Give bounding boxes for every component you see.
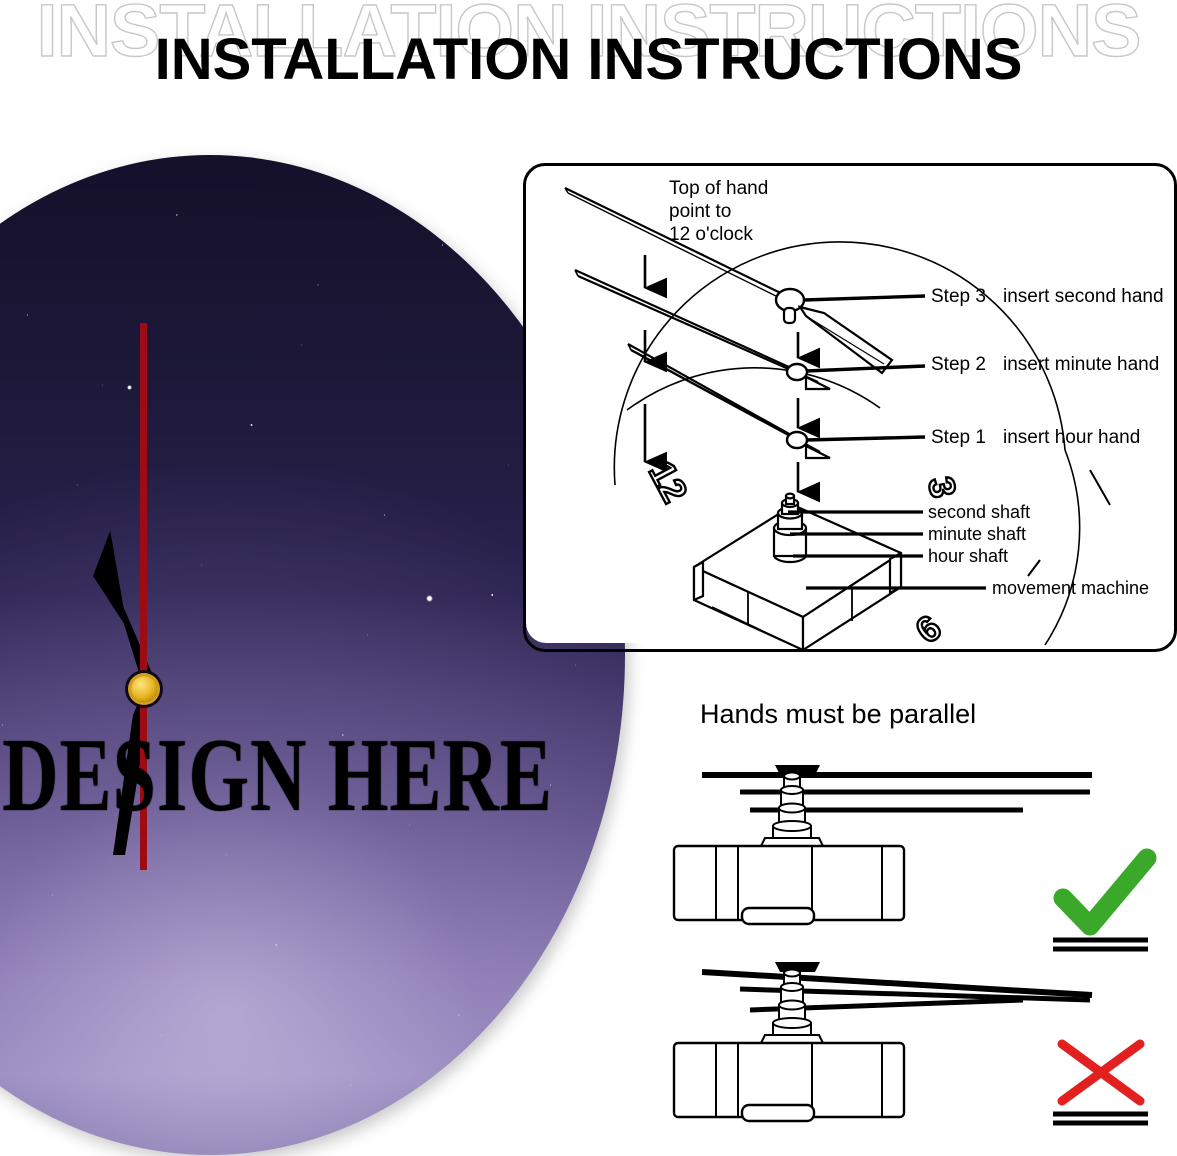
parallel-section-title: Hands must be parallel [700, 699, 976, 730]
step-1-label: Step 1 [931, 427, 986, 449]
correct-assembly-drawing [674, 765, 1092, 924]
minute-shaft-label: minute shaft [928, 524, 1026, 545]
clock-design-text: UR DESIGN HERE [0, 714, 625, 836]
second-shaft-label: second shaft [928, 502, 1030, 523]
step-1-action: insert hour hand [1003, 427, 1140, 449]
incorrect-assembly-drawing [674, 962, 1092, 1121]
hour-shaft-label: hour shaft [928, 546, 1008, 567]
clock-center-cap [131, 676, 157, 702]
step-2-action: insert minute hand [1003, 354, 1159, 376]
clock-second-hand [140, 323, 147, 703]
step-3-label: Step 3 [931, 286, 986, 308]
check-mark-icon [1053, 858, 1148, 949]
installation-instructions-page: INSTALLATION INSTRUCTIONS INSTALLATION I… [0, 0, 1177, 1156]
step-3-action: insert second hand [1003, 286, 1164, 308]
top-of-hand-note: Top of hand point to 12 o'clock [669, 177, 768, 246]
page-title: INSTALLATION INSTRUCTIONS [0, 26, 1177, 93]
movement-machine-label: movement machine [992, 578, 1149, 599]
cross-mark-icon [1053, 1044, 1148, 1123]
step-2-label: Step 2 [931, 354, 986, 376]
